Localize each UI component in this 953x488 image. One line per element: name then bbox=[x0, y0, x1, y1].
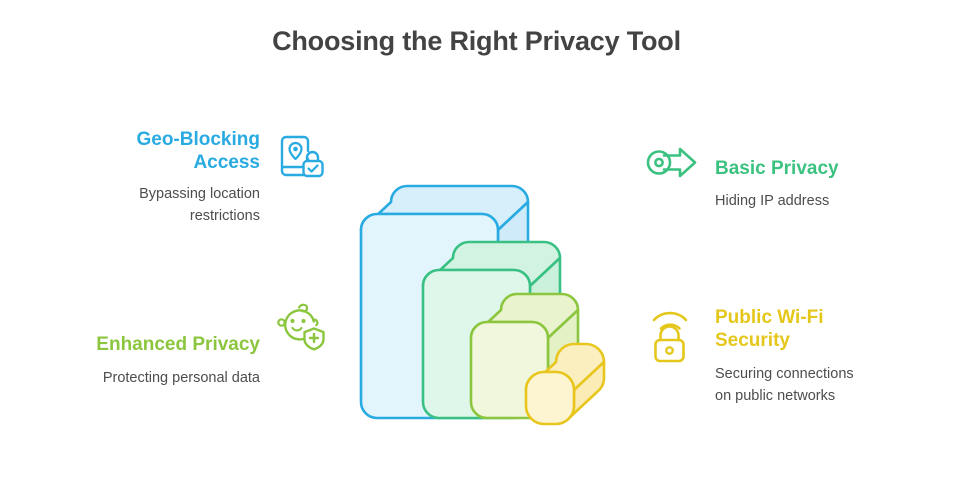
phone-location-lock-icon bbox=[274, 128, 330, 184]
key-arrow-icon bbox=[645, 135, 701, 191]
item-basic-privacy: Basic Privacy Hiding IP address bbox=[645, 135, 945, 213]
item-geo-blocking-access: Geo-Blocking Access Bypassing location r… bbox=[40, 128, 330, 227]
item-heading: Public Wi-Fi Security bbox=[715, 306, 945, 352]
nested-privacy-layers-diagram bbox=[330, 150, 630, 445]
item-description: Securing connections on public networks bbox=[715, 364, 945, 407]
item-public-wifi-security: Public Wi-Fi Security Securing connectio… bbox=[645, 300, 945, 407]
item-heading: Enhanced Privacy bbox=[20, 333, 260, 356]
item-description: Protecting personal data bbox=[20, 368, 260, 389]
infographic-canvas: Choosing the Right Privacy Tool Geo-Bloc… bbox=[0, 0, 953, 488]
item-heading: Basic Privacy bbox=[715, 157, 945, 180]
item-description: Bypassing location restrictions bbox=[40, 184, 260, 227]
item-enhanced-privacy: Enhanced Privacy Protecting personal dat… bbox=[20, 305, 330, 390]
item-description: Hiding IP address bbox=[715, 191, 945, 212]
page-title: Choosing the Right Privacy Tool bbox=[0, 26, 953, 57]
item-text-block: Geo-Blocking Access Bypassing location r… bbox=[40, 128, 274, 227]
item-text-block: Enhanced Privacy Protecting personal dat… bbox=[20, 305, 274, 390]
item-text-block: Public Wi-Fi Security Securing connectio… bbox=[701, 306, 945, 407]
item-text-block: Basic Privacy Hiding IP address bbox=[701, 157, 945, 213]
baby-shield-icon bbox=[274, 299, 330, 355]
wifi-lock-icon bbox=[645, 306, 701, 362]
item-heading: Geo-Blocking Access bbox=[40, 128, 260, 174]
